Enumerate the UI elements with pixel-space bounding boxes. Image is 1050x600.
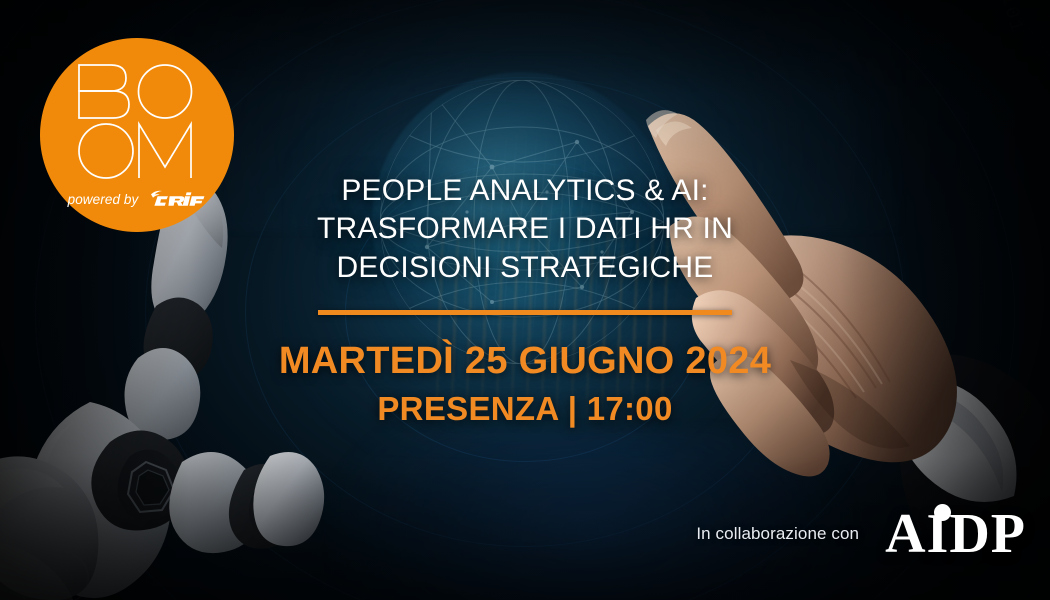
title-line-3: DECISIONI STRATEGICHE [255, 249, 795, 287]
event-banner: 1011000110101 1001101100 [0, 0, 1050, 600]
event-session: PRESENZA | 17:00 [377, 390, 672, 428]
title-line-1: PEOPLE ANALYTICS & AI: [255, 172, 795, 210]
collaboration-label: In collaborazione con [696, 524, 859, 544]
title-divider [318, 310, 732, 315]
aidp-logo-dot-icon [934, 504, 951, 521]
title-line-2: TRASFORMARE I DATI HR IN [255, 210, 795, 248]
aidp-logo-text: AIDP [885, 503, 1026, 565]
event-date: MARTEDÌ 25 GIUGNO 2024 [279, 340, 771, 383]
collaboration-group: In collaborazione con AIDP [696, 506, 1026, 562]
aidp-logo[interactable]: AIDP [885, 506, 1026, 562]
page-title: PEOPLE ANALYTICS & AI: TRASFORMARE I DAT… [255, 172, 795, 287]
